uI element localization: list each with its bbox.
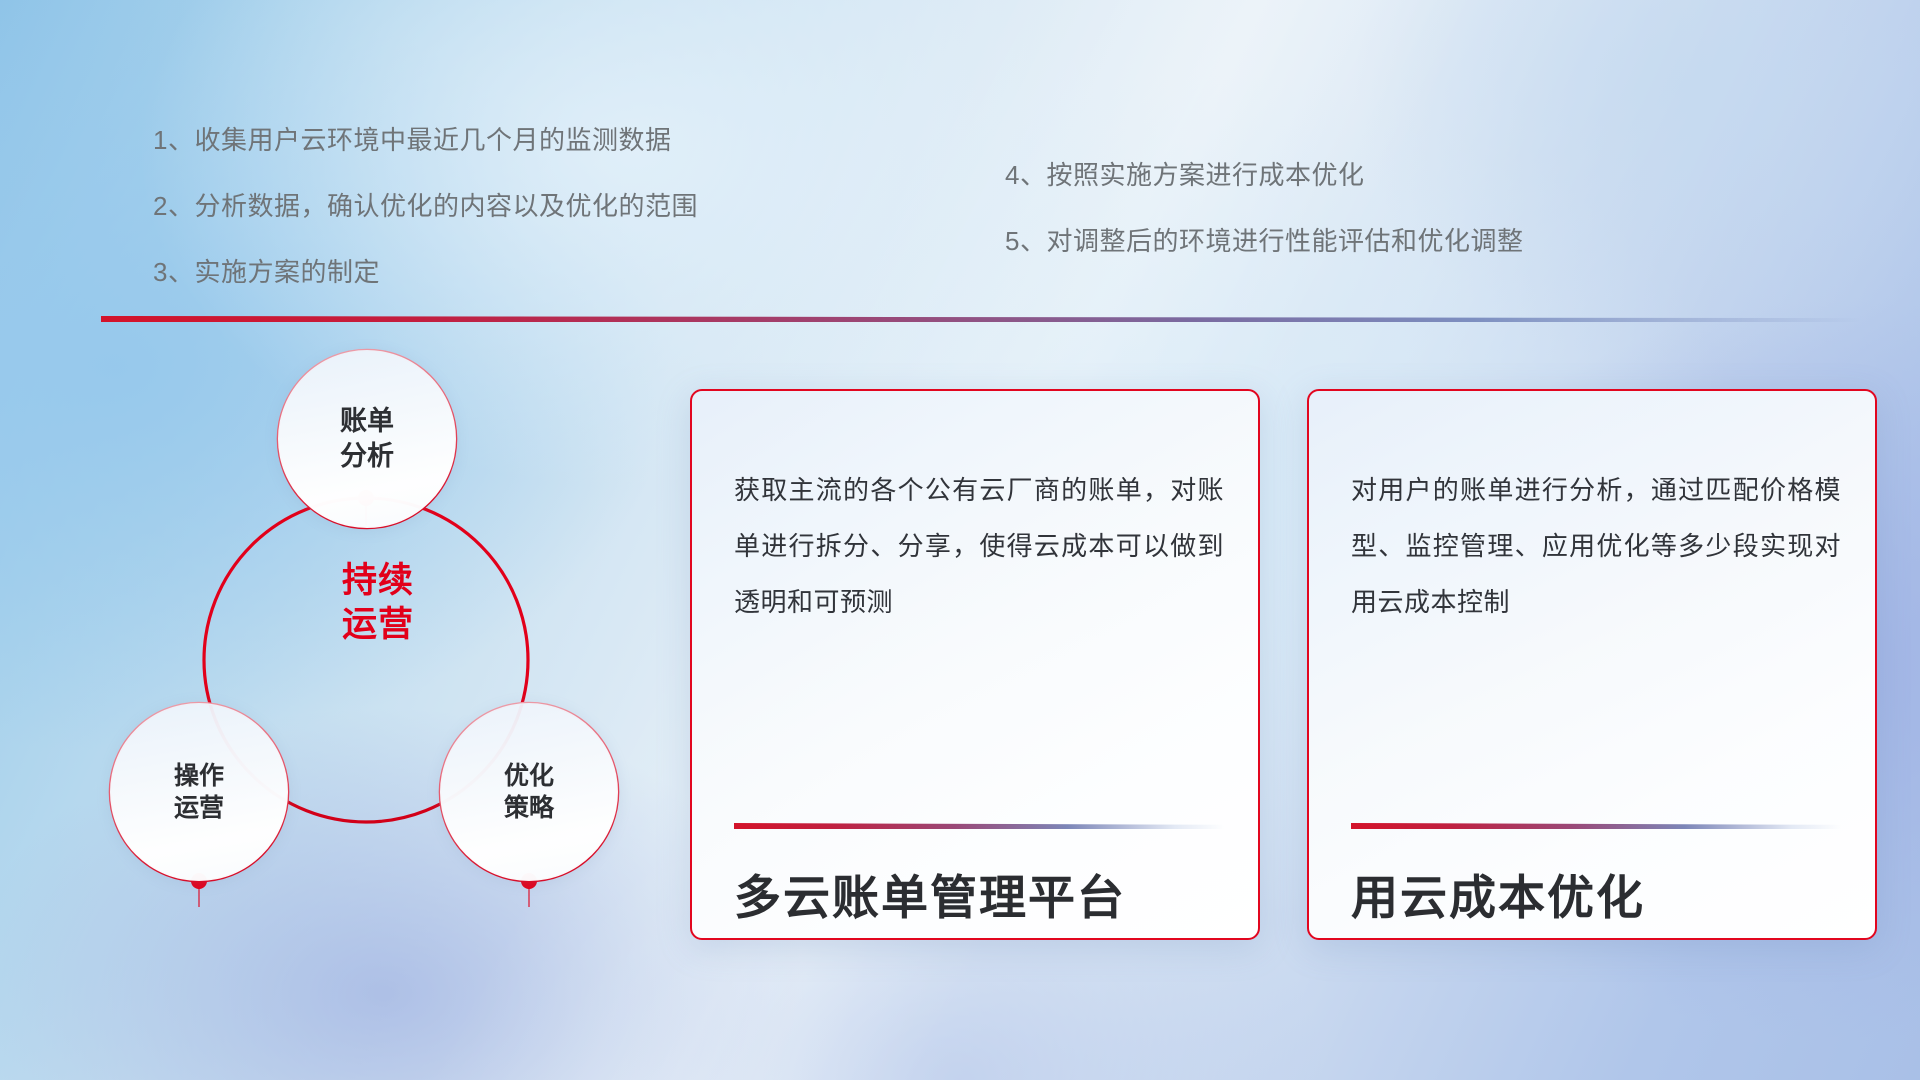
process-step-1: 1、收集用户云环境中最近几个月的监测数据 [153, 120, 698, 157]
card-1-title: 多云账单管理平台 [734, 859, 1228, 928]
venn-bubble-operations-line2: 运营 [174, 792, 224, 824]
venn-bubble-optimization-line1: 优化 [504, 760, 554, 792]
process-step-2: 2、分析数据，确认优化的内容以及优化的范围 [153, 186, 698, 223]
venn-center-label: 持续 运营 [293, 559, 463, 647]
process-steps-right-column: 4、按照实施方案进行成本优化 5、对调整后的环境进行性能评估和优化调整 [1005, 155, 1523, 287]
card-1-description: 获取主流的各个公有云厂商的账单，对账单进行拆分、分享，使得云成本可以做到透明和可… [734, 463, 1224, 631]
process-step-5: 5、对调整后的环境进行性能评估和优化调整 [1005, 221, 1523, 258]
card-2-description: 对用户的账单进行分析，通过匹配价格模型、监控管理、应用优化等多少段实现对用云成本… [1351, 463, 1841, 631]
venn-bubble-optimization-line2: 策略 [504, 792, 554, 824]
venn-bubble-bill-analysis[interactable]: 账单 分析 [278, 350, 456, 528]
process-step-3: 3、实施方案的制定 [153, 252, 698, 289]
venn-bubble-operations-line1: 操作 [174, 760, 224, 792]
venn-center-label-line1: 持续 [293, 559, 463, 603]
venn-bubble-bill-analysis-line1: 账单 [340, 404, 394, 439]
venn-bubble-bill-analysis-line2: 分析 [340, 439, 394, 474]
venn-bubble-optimization-strategy[interactable]: 优化 策略 [440, 703, 618, 881]
card-multi-cloud-billing-platform[interactable]: 获取主流的各个公有云厂商的账单，对账单进行拆分、分享，使得云成本可以做到透明和可… [690, 389, 1260, 940]
continuous-operations-venn-diagram: 账单 分析 操作 运营 优化 策略 持续 运营 [95, 345, 655, 955]
card-2-title: 用云成本优化 [1351, 859, 1845, 928]
card-2-accent-rule [1351, 823, 1841, 829]
process-steps-left-column: 1、收集用户云环境中最近几个月的监测数据 2、分析数据，确认优化的内容以及优化的… [153, 120, 698, 318]
venn-bubble-operations[interactable]: 操作 运营 [110, 703, 288, 881]
card-cloud-cost-optimization[interactable]: 对用户的账单进行分析，通过匹配价格模型、监控管理、应用优化等多少段实现对用云成本… [1307, 389, 1877, 940]
process-step-4: 4、按照实施方案进行成本优化 [1005, 155, 1523, 192]
venn-center-label-line2: 运营 [293, 603, 463, 647]
card-1-accent-rule [734, 823, 1224, 829]
